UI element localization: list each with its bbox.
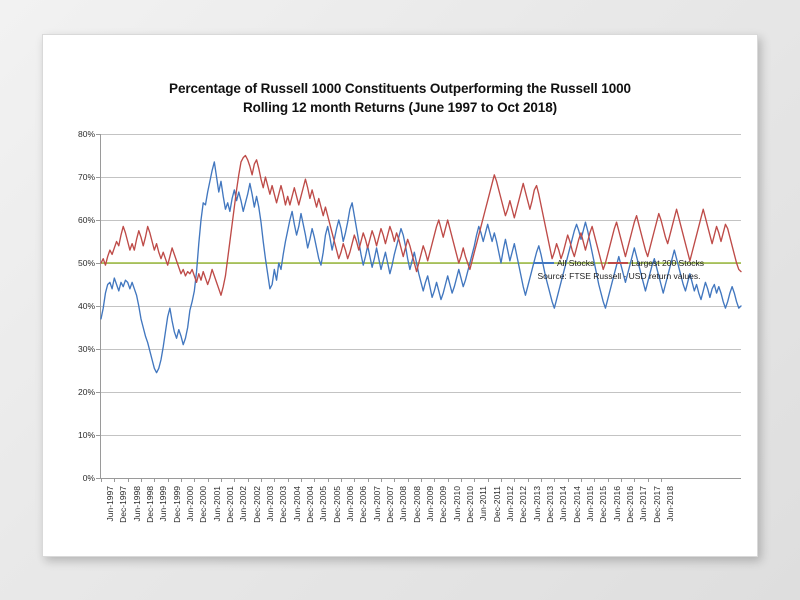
x-tick-label: Jun-2008 — [398, 486, 408, 521]
y-tick-label: 0% — [83, 473, 95, 483]
x-tick-label: Dec-2013 — [545, 486, 555, 523]
plot-area: 0%10%20%30%40%50%60%70%80% Jun-1997Dec-1… — [101, 134, 741, 478]
legend-label-largest-200: Largest 200 Stocks — [631, 257, 704, 269]
y-tick-label: 50% — [78, 258, 95, 268]
x-tick-label: Dec-2010 — [465, 486, 475, 523]
y-tick-label: 10% — [78, 430, 95, 440]
x-tick-label: Jun-1998 — [132, 486, 142, 521]
x-tick-label: Jun-2012 — [505, 486, 515, 521]
x-tick-label: Dec-2009 — [438, 486, 448, 523]
x-tick-label: Dec-2004 — [305, 486, 315, 523]
x-tick-label: Dec-2016 — [625, 486, 635, 523]
x-tick-label: Jun-2002 — [238, 486, 248, 521]
legend-entry-largest-200: Largest 200 Stocks — [608, 257, 704, 269]
x-axis-labels: Jun-1997Dec-1997Jun-1998Dec-1998Jun-1999… — [101, 478, 741, 538]
x-tick-label: Dec-2003 — [278, 486, 288, 523]
legend-swatch-all-stocks — [534, 262, 554, 264]
y-tick-label: 40% — [78, 301, 95, 311]
chart-legend: All Stocks Largest 200 Stocks Source: FT… — [501, 257, 737, 281]
x-tick-label: Dec-2012 — [518, 486, 528, 523]
y-tick-label: 30% — [78, 344, 95, 354]
x-tick-label: Jun-2016 — [612, 486, 622, 521]
x-tick-label: Jun-2013 — [532, 486, 542, 521]
x-tick-label: Jun-2001 — [212, 486, 222, 521]
x-tick-label: Jun-2015 — [585, 486, 595, 521]
y-tick-label: 80% — [78, 129, 95, 139]
chart-card: Percentage of Russell 1000 Constituents … — [42, 34, 758, 557]
x-tick-label: Dec-2002 — [252, 486, 262, 523]
x-tick-label: Dec-1998 — [145, 486, 155, 523]
x-tick-label: Jun-2017 — [638, 486, 648, 521]
x-tick-label: Dec-1997 — [118, 486, 128, 523]
x-tick-label: Dec-2015 — [598, 486, 608, 523]
x-tick-label: Jun-1997 — [105, 486, 115, 521]
series-lines — [101, 134, 741, 478]
x-tick-label: Dec-2017 — [652, 486, 662, 523]
x-tick-label: Dec-2011 — [492, 486, 502, 522]
legend-swatch-largest-200 — [608, 262, 628, 264]
x-tick-label: Dec-2001 — [225, 486, 235, 523]
x-tick-label: Dec-1999 — [172, 486, 182, 523]
x-tick-label: Dec-2007 — [385, 486, 395, 523]
x-tick-label: Jun-1999 — [158, 486, 168, 521]
x-tick-label: Jun-2006 — [345, 486, 355, 521]
x-tick-label: Jun-2010 — [452, 486, 462, 521]
x-tick-label: Jun-2005 — [318, 486, 328, 521]
x-tick-label: Jun-2011 — [478, 486, 488, 521]
x-tick-label: Jun-2007 — [372, 486, 382, 521]
chart-title: Percentage of Russell 1000 Constituents … — [43, 79, 757, 98]
legend-entries: All Stocks Largest 200 Stocks — [501, 257, 737, 269]
legend-label-all-stocks: All Stocks — [557, 257, 594, 269]
x-tick-label: Dec-2014 — [572, 486, 582, 523]
x-tick-label: Jun-2014 — [558, 486, 568, 521]
y-axis-labels: 0%10%20%30%40%50%60%70%80% — [67, 134, 95, 478]
chart-title-block: Percentage of Russell 1000 Constituents … — [43, 79, 757, 117]
x-tick-label: Jun-2000 — [185, 486, 195, 521]
source-note: Source: FTSE Russell - USD return values… — [501, 271, 737, 281]
y-tick-label: 60% — [78, 215, 95, 225]
y-tick-label: 20% — [78, 387, 95, 397]
chart-subtitle: Rolling 12 month Returns (June 1997 to O… — [43, 98, 757, 117]
x-tick-label: Jun-2003 — [265, 486, 275, 521]
x-tick-label: Dec-2006 — [358, 486, 368, 523]
x-tick-label: Jun-2018 — [665, 486, 675, 521]
x-tick-label: Dec-2008 — [412, 486, 422, 523]
legend-entry-all-stocks: All Stocks — [534, 257, 594, 269]
screenshot-root: Percentage of Russell 1000 Constituents … — [0, 0, 800, 600]
x-tick-label: Jun-2009 — [425, 486, 435, 521]
x-tick-label: Jun-2004 — [292, 486, 302, 521]
y-tick-label: 70% — [78, 172, 95, 182]
x-tick-label: Dec-2005 — [332, 486, 342, 523]
x-tick-label: Dec-2000 — [198, 486, 208, 523]
